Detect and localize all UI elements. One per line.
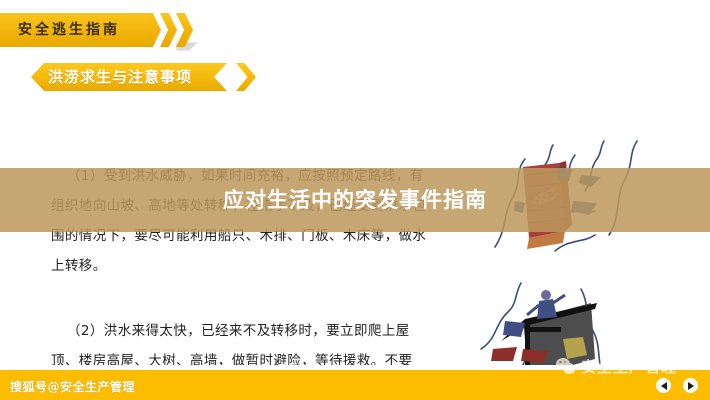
paragraph-2: （2）洪水来得太快，已经来不及转移时，要立即爬上屋顶、楼房高屋、大树、高墙，做暂…: [51, 316, 423, 365]
section-subtitle-label: 洪涝求生与注意事项: [48, 63, 192, 91]
previous-slide-button[interactable]: [656, 378, 671, 393]
sohu-account-mark: 搜狐号@安全生产管理: [10, 378, 135, 395]
overlay-headline: 应对生活中的突发事件指南: [0, 168, 710, 232]
ribbon-chevron-2-icon: [160, 13, 177, 47]
flood-rooftop-refuge-illustration: [451, 281, 699, 365]
guide-series-title: 安全逃生指南: [18, 13, 120, 47]
wechat-icon: [556, 358, 576, 375]
wechat-account-name: 安全生产管理: [581, 356, 677, 377]
ribbon-chevron-3-icon: [176, 13, 193, 47]
arrow-left-icon: [661, 382, 667, 390]
next-slide-button[interactable]: [683, 378, 698, 393]
arrow-right-icon: [688, 382, 694, 390]
slide-navigation: [656, 378, 698, 393]
wechat-watermark: 安全生产管理: [556, 355, 677, 377]
screenshot-root: 安全逃生指南: [0, 0, 710, 400]
